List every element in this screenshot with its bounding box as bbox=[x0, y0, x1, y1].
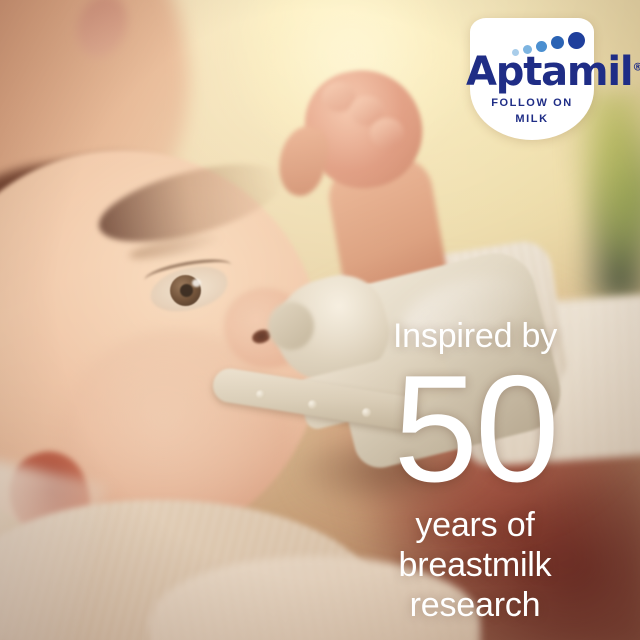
logo-dot-5 bbox=[568, 32, 585, 49]
baby-pupil bbox=[180, 284, 193, 297]
brand-name: Aptamil bbox=[466, 49, 632, 95]
headline-line-3: research bbox=[330, 585, 620, 625]
brand-subtitle-line1: FOLLOW ON bbox=[470, 96, 594, 112]
logo-dot-4 bbox=[551, 36, 564, 49]
collar-stud bbox=[256, 390, 265, 399]
trademark-symbol: ® bbox=[632, 61, 640, 74]
headline-number: 50 bbox=[330, 358, 620, 501]
headline-block: Inspired by 50 years of breastmilk resea… bbox=[330, 318, 620, 625]
headline-line-2: breastmilk bbox=[330, 545, 620, 585]
headline-body: years of breastmilk research bbox=[330, 505, 620, 625]
headline-line-1: years of bbox=[330, 505, 620, 545]
collar-stud bbox=[308, 400, 317, 409]
baby-knuckle bbox=[370, 118, 404, 148]
brand-subtitle: FOLLOW ON MILK bbox=[470, 96, 594, 128]
brand-subtitle-line2: MILK bbox=[470, 112, 594, 128]
advertisement-image: Aptamil® FOLLOW ON MILK Inspired by 50 y… bbox=[0, 0, 640, 640]
bottle-teat-tip bbox=[268, 302, 314, 350]
baby-thumb bbox=[272, 121, 334, 200]
brand-wordmark: Aptamil® bbox=[466, 52, 626, 92]
